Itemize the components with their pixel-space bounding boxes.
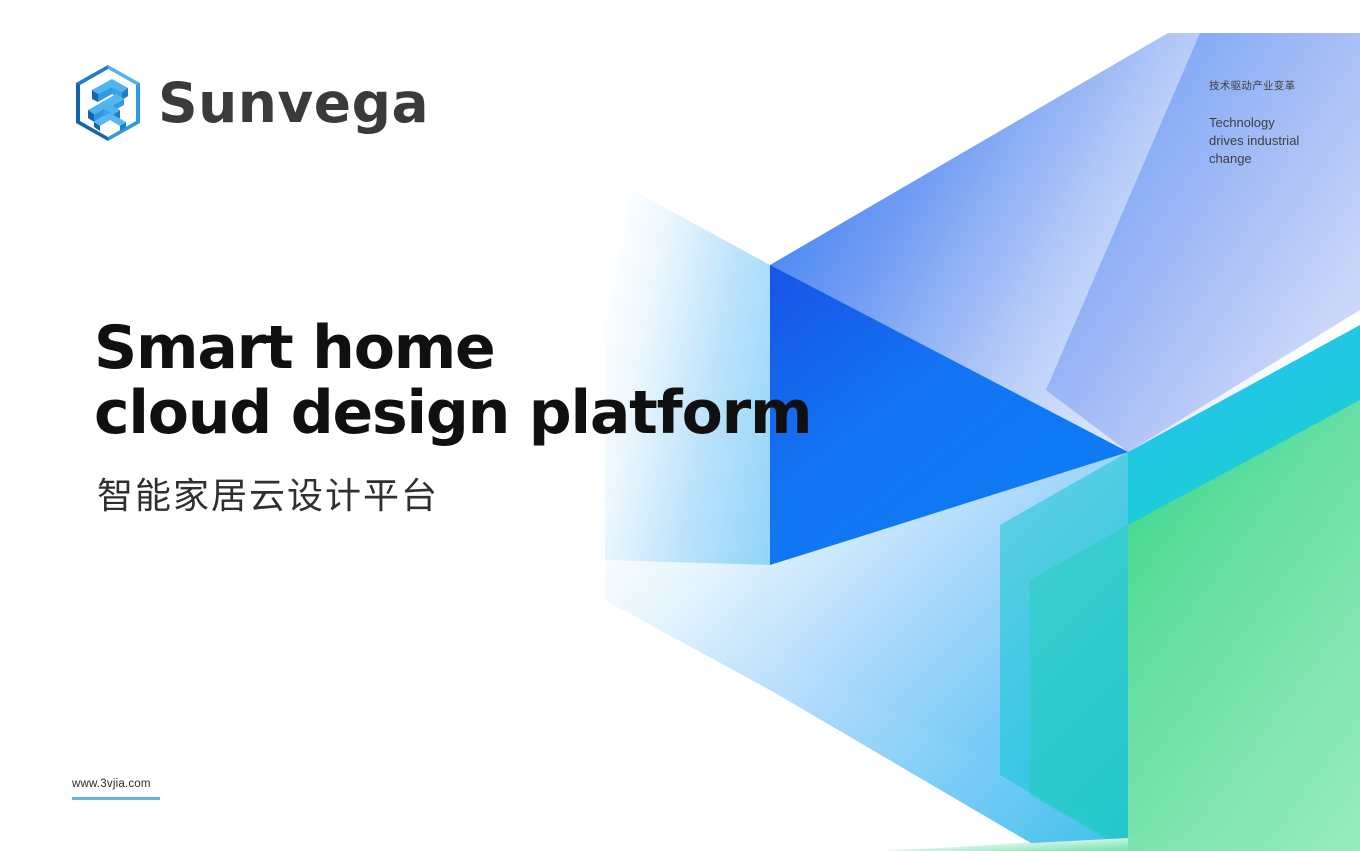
artwork-face-teal: [1000, 452, 1128, 851]
slide-canvas: Sunvega 技术驱动产业变革 Technology drives indus…: [0, 0, 1360, 851]
artwork-plane-green-top: [1128, 400, 1360, 851]
footer-block: www.3vjia.com: [72, 778, 160, 800]
artwork-slab-cyan: [1128, 325, 1360, 542]
artwork-plane-mint-fade: [900, 835, 1360, 851]
tagline-chinese: 技术驱动产业变革: [1209, 79, 1339, 94]
tagline-block: 技术驱动产业变革 Technology drives industrial ch…: [1209, 79, 1339, 168]
brand-wordmark: Sunvega: [158, 76, 429, 131]
tagline-english-line-2: drives industrial: [1209, 132, 1339, 150]
artwork-plane-core-dark: [770, 265, 1128, 565]
artwork-fade-mint: [880, 838, 1128, 851]
artwork-plane-green-blue-blend: [1030, 525, 1128, 851]
artwork-plane-green: [1128, 400, 1360, 851]
sunvega-logo-icon: [72, 63, 144, 143]
tagline-english-line-1: Technology: [1209, 114, 1339, 132]
footer-divider: [72, 797, 160, 800]
page-subtitle-chinese: 智能家居云设计平台: [97, 467, 439, 519]
website-url[interactable]: www.3vjia.com: [72, 778, 160, 790]
page-title: Smart home cloud design platform: [94, 316, 794, 446]
artwork-plane-lower-pale: [605, 452, 1128, 835]
headline-line-2: cloud design platform: [94, 381, 794, 446]
artwork-block-front-left: [770, 265, 1128, 565]
brand-logo: Sunvega: [72, 63, 429, 143]
headline-line-1: Smart home: [94, 316, 794, 381]
artwork-sheet-lower: [605, 455, 1128, 851]
tagline-english-line-3: change: [1209, 150, 1339, 168]
tagline-english: Technology drives industrial change: [1209, 114, 1339, 168]
